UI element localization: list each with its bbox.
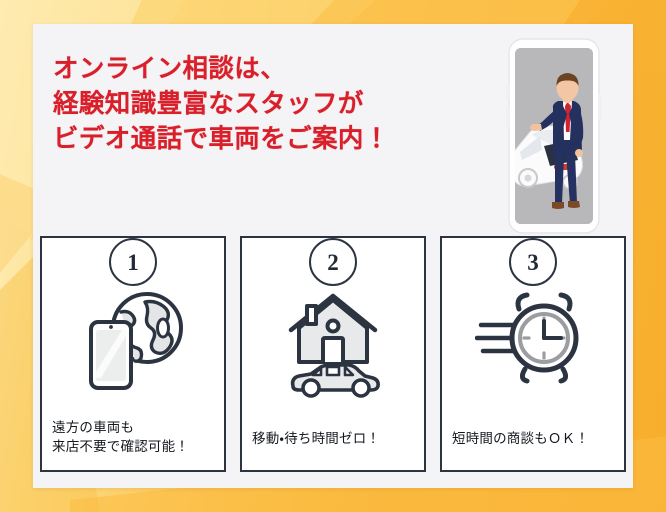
benefit-card-3-caption: 短時間の商談もＯＫ！ [452,429,618,448]
benefit-card-1[interactable]: 遠方の車両も 来店不要で確認可能！ 1 [40,236,226,472]
benefit-card-2-badge: 2 [309,238,357,286]
poster-canvas: オンライン相談は、 経験知識豊富なスタッフが ビデオ通話で車両をご案内！ [0,0,666,512]
content-panel: オンライン相談は、 経験知識豊富なスタッフが ビデオ通話で車両をご案内！ [33,24,633,488]
benefit-card-1-badge: 1 [109,238,157,286]
house-car-icon [242,274,424,402]
page-title: オンライン相談は、 経験知識豊富なスタッフが ビデオ通話で車両をご案内！ [53,52,483,157]
headline-line-3: ビデオ通話で車両をご案内！ [53,122,483,157]
speeding-alarm-clock-icon [442,274,624,402]
headline-line-1: オンライン相談は、 [53,52,483,87]
benefit-cards: 遠方の車両も 来店不要で確認可能！ 1 [40,212,626,472]
benefit-card-3[interactable]: 短時間の商談もＯＫ！ 3 [440,236,626,472]
benefit-card-2-caption: 移動・待ち時間ゼロ！ [252,429,418,448]
benefit-card-3-badge: 3 [509,238,557,286]
smartphone-video-call-salesman-icon [506,36,602,236]
headline-line-2: 経験知識豊富なスタッフが [53,87,483,122]
benefit-card-1-caption: 遠方の車両も 来店不要で確認可能！ [52,418,218,456]
benefit-card-2[interactable]: 移動・待ち時間ゼロ！ 2 [240,236,426,472]
globe-smartphone-icon [42,274,224,402]
